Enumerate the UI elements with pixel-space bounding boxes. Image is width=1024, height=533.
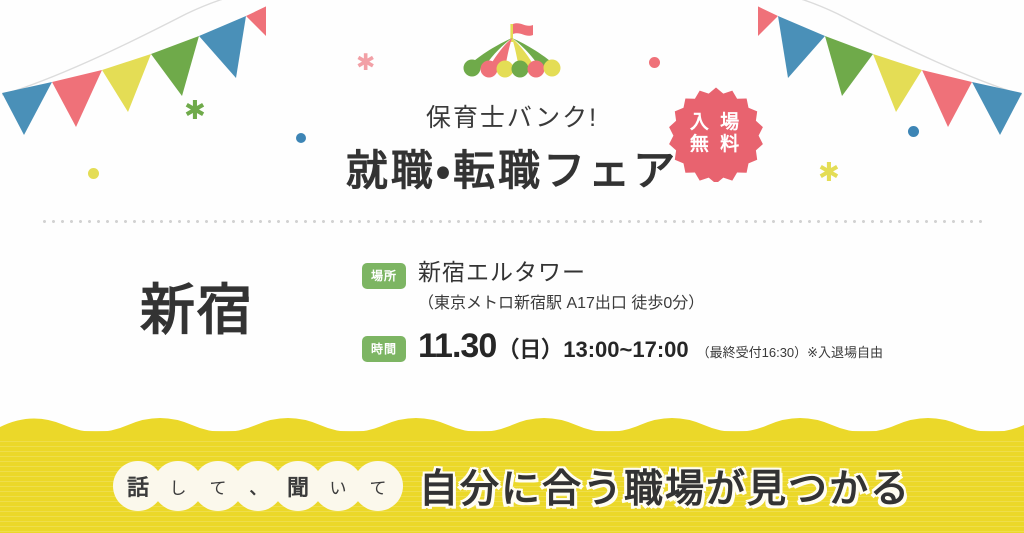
venue-name: 新宿エルタワー [418,259,704,285]
brand-name: 保育士バンク! [0,98,1024,134]
banner-wave-edge [0,413,1024,439]
asterisk-pink-center: ✱ [356,52,375,75]
bubble-char: て [353,461,403,511]
event-details: 場所 新宿エルタワー （東京メトロ新宿駅 A17出口 徒歩0分） 時間 11.3… [362,259,883,366]
seal-line-2: 無 料 [690,134,742,156]
confetti-dot-pink-right [649,57,660,68]
city-name: 新宿 [140,283,254,338]
banner-content: 話 し て 、 聞 い て 自分に合う職場が見つかる [0,439,1024,533]
event-poster: ✱ ✱ ✱ 保育士バンク! 就職・転職フェア 入 場 無 料 [0,0,1024,533]
place-tag: 場所 [362,263,406,289]
time-row: 時間 11.30 （日）13:00~17:00 （最終受付16:30）※入退場自… [362,327,883,366]
time-tag: 時間 [362,336,406,362]
banner-tagline: 自分に合う職場が見つかる [419,458,911,514]
bottom-banner: 話 し て 、 聞 い て 自分に合う職場が見つかる [0,413,1024,533]
event-hours: （日）13:00~17:00 [497,332,688,364]
banner-bubbles: 話 し て 、 聞 い て [113,461,393,511]
event-date: 11.30 [418,327,496,366]
dotted-divider [40,220,984,223]
free-admission-badge: 入 場 無 料 [668,86,764,182]
venue-row: 場所 新宿エルタワー （東京メトロ新宿駅 A17出口 徒歩0分） [362,259,883,313]
event-time-note: （最終受付16:30）※入退場自由 [697,342,883,361]
seal-line-1: 入 場 [690,112,742,134]
venue-access: （東京メトロ新宿駅 A17出口 徒歩0分） [418,289,704,313]
page-title: 就職・転職フェア [0,137,1024,198]
circus-tent-icon [458,22,566,84]
